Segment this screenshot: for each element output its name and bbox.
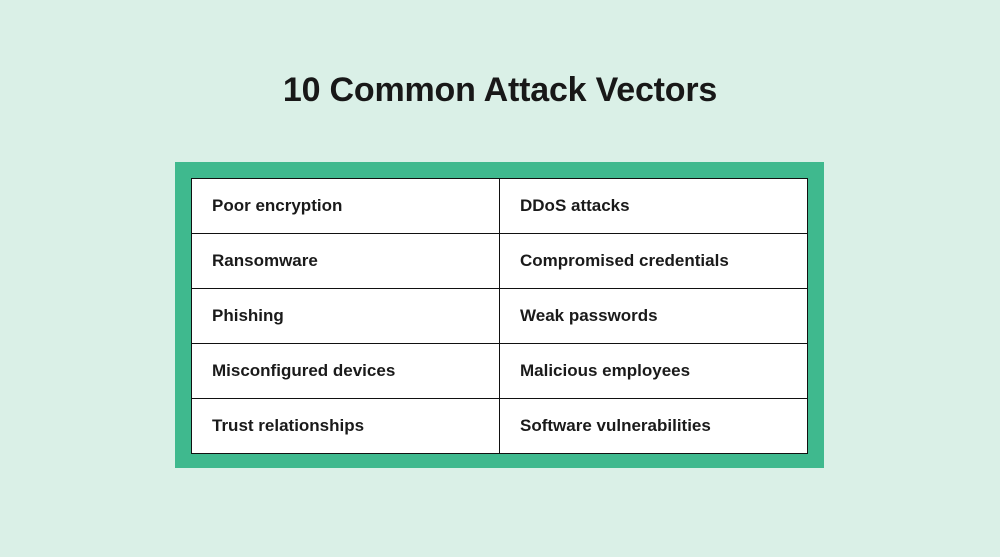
attack-vector-cell: Ransomware: [192, 234, 500, 289]
attack-vector-cell: Trust relationships: [192, 399, 500, 454]
table-row: Trust relationships Software vulnerabili…: [192, 399, 808, 454]
page-title: 10 Common Attack Vectors: [0, 68, 1000, 112]
table-frame: Poor encryption DDoS attacks Ransomware …: [175, 162, 824, 468]
table-row: Ransomware Compromised credentials: [192, 234, 808, 289]
attack-vector-cell: Poor encryption: [192, 179, 500, 234]
attack-vectors-infographic: 10 Common Attack Vectors Poor encryption…: [0, 0, 1000, 557]
attack-vector-cell: Compromised credentials: [500, 234, 808, 289]
attack-vector-cell: Weak passwords: [500, 289, 808, 344]
table-row: Poor encryption DDoS attacks: [192, 179, 808, 234]
attack-vectors-table: Poor encryption DDoS attacks Ransomware …: [191, 178, 808, 454]
attack-vector-cell: Malicious employees: [500, 344, 808, 399]
attack-vector-cell: Software vulnerabilities: [500, 399, 808, 454]
table-row: Misconfigured devices Malicious employee…: [192, 344, 808, 399]
table-row: Phishing Weak passwords: [192, 289, 808, 344]
attack-vector-cell: DDoS attacks: [500, 179, 808, 234]
attack-vector-cell: Misconfigured devices: [192, 344, 500, 399]
attack-vector-cell: Phishing: [192, 289, 500, 344]
